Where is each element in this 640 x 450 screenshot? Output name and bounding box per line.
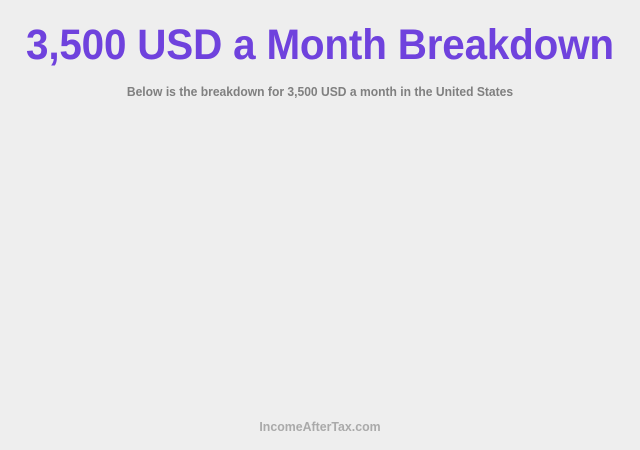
site-watermark: IncomeAfterTax.com xyxy=(16,420,624,434)
chart-plot-area xyxy=(0,99,640,420)
page-subtitle: Below is the breakdown for 3,500 USD a m… xyxy=(22,68,617,99)
page-header: 3,500 USD a Month Breakdown Below is the… xyxy=(0,0,640,99)
page-title: 3,500 USD a Month Breakdown xyxy=(19,22,621,68)
chart-region xyxy=(0,99,640,420)
page-footer: IncomeAfterTax.com xyxy=(0,420,640,450)
page-root: 3,500 USD a Month Breakdown Below is the… xyxy=(0,0,640,450)
